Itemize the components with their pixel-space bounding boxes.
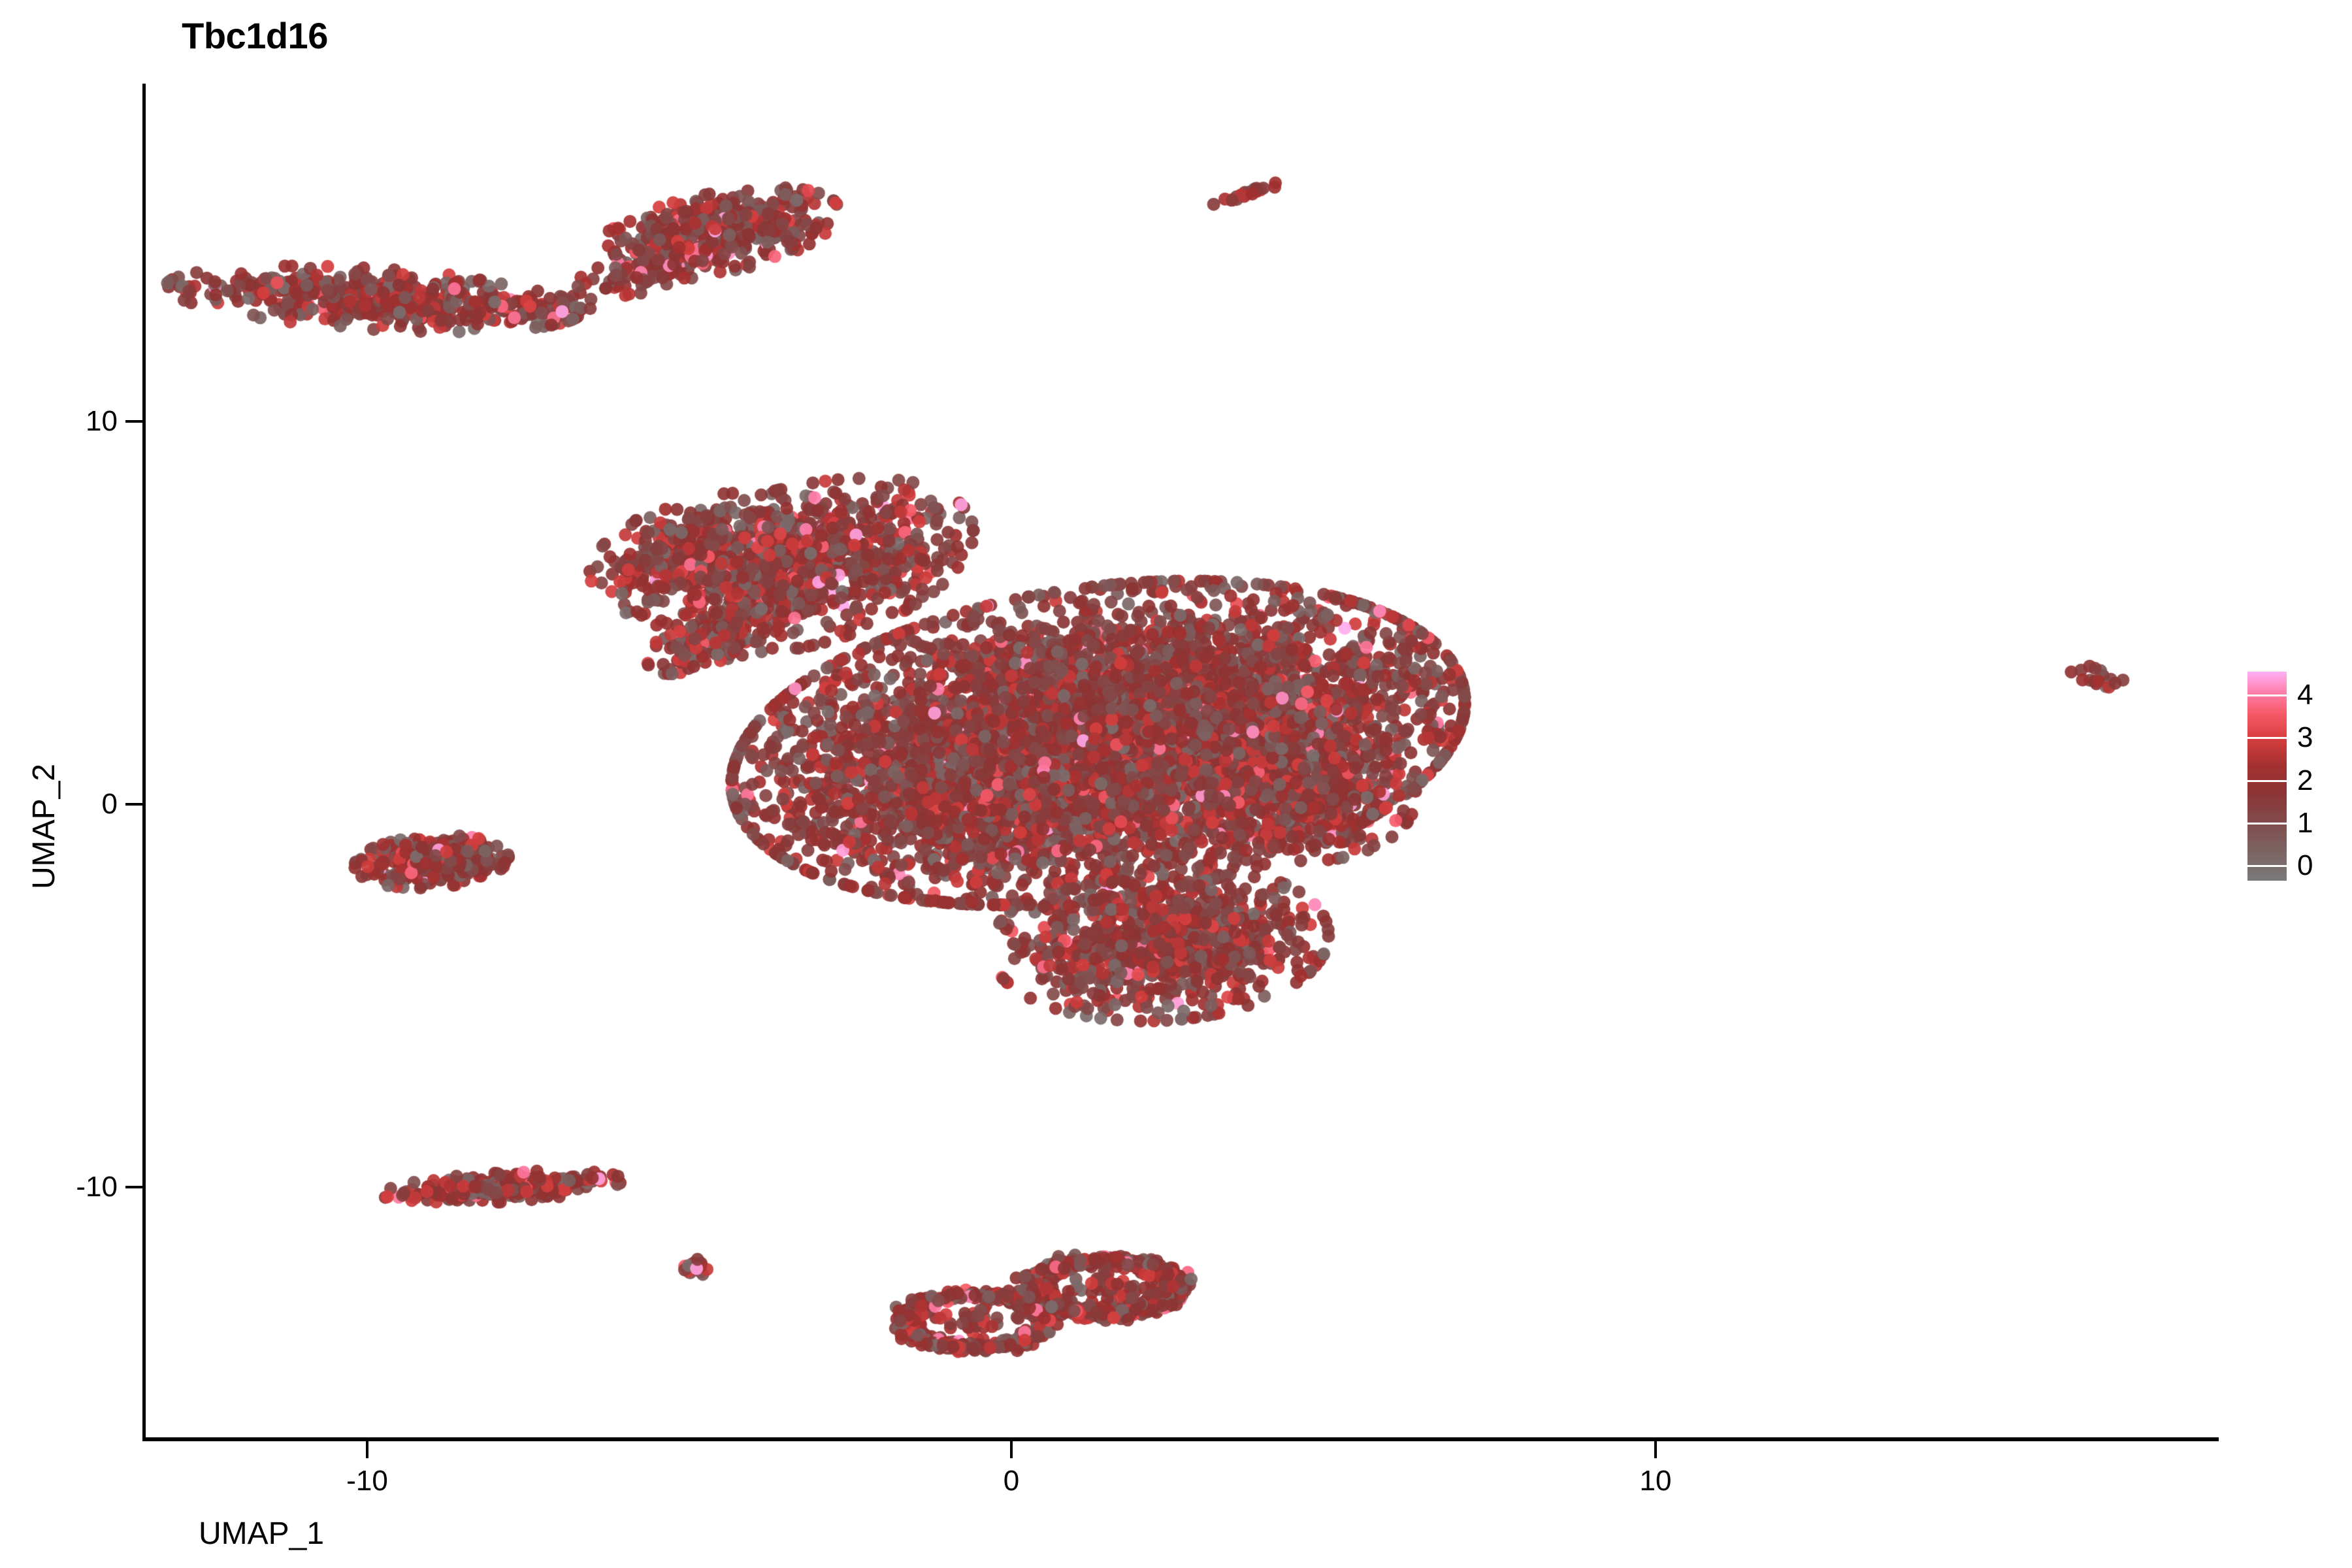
colorbar-tick	[2247, 865, 2287, 867]
colorbar-gradient	[2247, 672, 2287, 881]
x-tick-label: 10	[1640, 1465, 1672, 1497]
colorbar-tick-label: 3	[2297, 721, 2313, 754]
x-tick-mark	[366, 1441, 368, 1458]
colorbar-tick	[2247, 780, 2287, 782]
x-tick-label: 0	[1004, 1465, 1019, 1497]
y-axis-title: UMAP_2	[26, 764, 62, 889]
y-axis-line	[142, 84, 146, 1441]
colorbar-tick-label: 2	[2297, 764, 2313, 797]
x-tick-mark	[1010, 1441, 1013, 1458]
x-axis-line	[142, 1437, 2219, 1441]
y-tick-label: 10	[86, 405, 118, 438]
colorbar-tick-label: 1	[2297, 807, 2313, 840]
colorbar-tick	[2247, 694, 2287, 696]
y-tick-mark	[125, 803, 142, 806]
y-tick-label: -10	[76, 1171, 118, 1203]
x-axis-title: UMAP_1	[0, 1516, 1437, 1552]
colorbar-tick	[2247, 823, 2287, 825]
scatter-canvas	[144, 84, 2221, 1439]
x-tick-label: -10	[346, 1465, 388, 1497]
colorbar-tick	[2247, 737, 2287, 739]
color-legend: 01234	[2247, 653, 2345, 902]
x-tick-mark	[1654, 1441, 1657, 1458]
y-tick-mark	[125, 420, 142, 423]
colorbar-tick-label: 0	[2297, 849, 2313, 882]
y-tick-mark	[125, 1186, 142, 1188]
umap-feature-plot: Tbc1d16 -10010 -10010 UMAP_1 UMAP_2 0123…	[0, 0, 2352, 1568]
plot-panel	[144, 84, 2221, 1439]
y-tick-label: 0	[102, 788, 118, 821]
page-title: Tbc1d16	[0, 14, 1431, 57]
colorbar-tick-label: 4	[2297, 679, 2313, 711]
